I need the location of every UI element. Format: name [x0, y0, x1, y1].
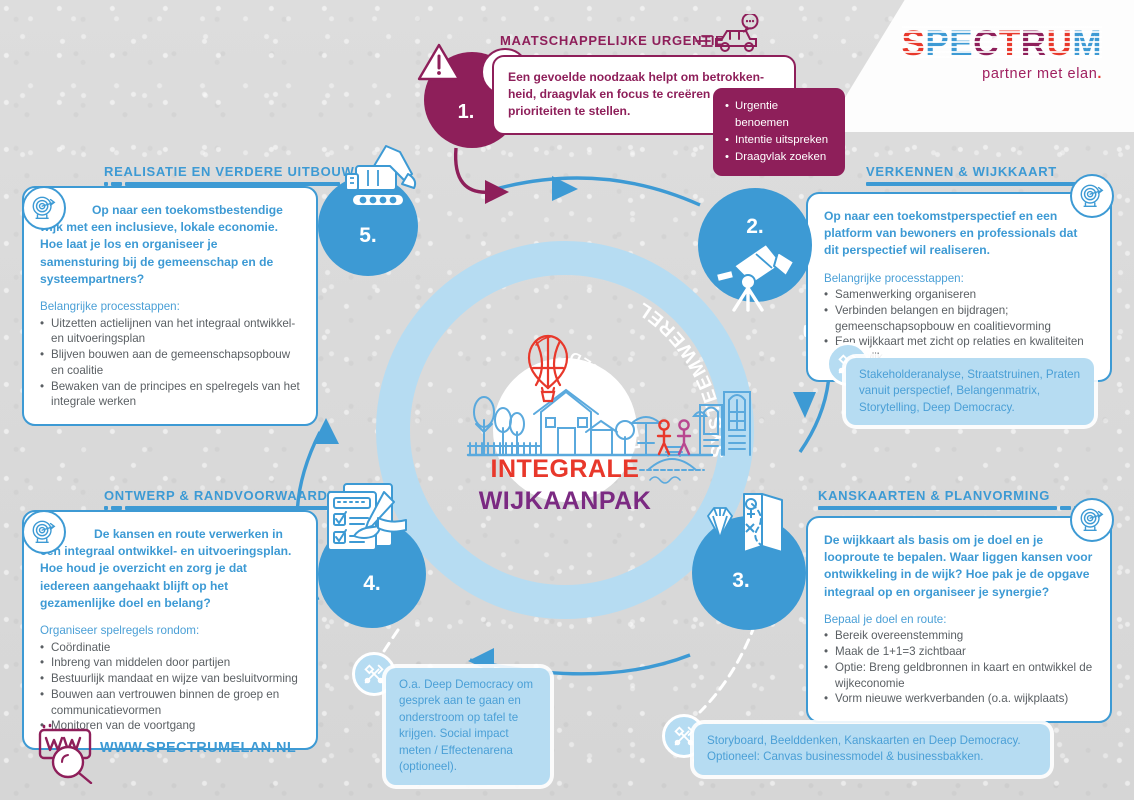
step4-bullet: Bouwen aan vertrouwen binnen de groep en…	[40, 687, 300, 719]
step4-tools-chip: O.a. Deep Democracy om gesprek aan te ga…	[386, 668, 550, 785]
center-title-line2: WIJKAANPAK	[435, 487, 695, 516]
spectrum-logo: S P E C T R U M partner met elan.	[902, 26, 1102, 82]
telescope-icon	[712, 232, 808, 312]
center-title-line1: INTEGRALE	[435, 455, 695, 484]
step5-header: REALISATIE EN VERDERE UITBOUW	[104, 164, 340, 186]
car-speech-bubble-icon	[692, 14, 764, 58]
step4-target-icon	[22, 510, 66, 554]
step1-chip-item: Urgentie benoemen	[725, 98, 833, 132]
step5-target-icon	[22, 186, 66, 230]
logo-letter-e: E	[949, 26, 973, 61]
step1-header-title: MAATSCHAPPELIJKE URGENTIE	[500, 33, 685, 48]
step5-bullets: Uitzetten actielijnen van het integraal …	[40, 316, 300, 411]
step4-number: 4.	[363, 572, 381, 596]
logo-letter-t: T	[999, 26, 1021, 61]
step1-header: MAATSCHAPPELIJKE URGENTIE	[500, 33, 685, 48]
www-search-magnifier-icon	[34, 722, 98, 784]
step2-target-icon	[1070, 174, 1114, 218]
step2-bullet: Samenwerking organiseren	[824, 287, 1094, 303]
step5-bullet: Uitzetten actielijnen van het integraal …	[40, 316, 300, 348]
step5-bullet: Bewaken van de principes en spelregels v…	[40, 379, 300, 411]
logo-letter-p: P	[925, 26, 949, 61]
step2-lead: Op naar een toekomstperspectief en een p…	[824, 208, 1094, 260]
step3-tools-chip: Storyboard, Beelddenken, Kanskaarten en …	[694, 724, 1050, 775]
diamond-map-icon	[684, 490, 804, 570]
step3-lead: De wijkkaart als basis om je doel en je …	[824, 532, 1094, 601]
logo-tagline: partner met elan.	[902, 66, 1102, 82]
logo-tagline-text: partner met elan	[982, 66, 1097, 82]
step3-target-icon	[1070, 498, 1114, 542]
step4-header: ONTWERP & RANDVOORWAARDEN	[104, 488, 340, 510]
logo-letter-u: U	[1047, 26, 1073, 61]
step3-header: KANSKAARTEN & PLANVORMING	[818, 488, 1078, 510]
step2-header: VERKENNEN & WIJKKAART	[866, 164, 1102, 186]
logo-letter-c: C	[973, 26, 999, 61]
step3-number: 3.	[732, 569, 750, 593]
step3-bullet: Optie: Breng geldbronnen in kaart en ont…	[824, 660, 1094, 692]
step4-header-title: ONTWERP & RANDVOORWAARDEN	[104, 488, 340, 503]
footer-url[interactable]: WWW.SPECTRUMELAN.NL	[100, 740, 296, 756]
logo-letter-m: M	[1072, 26, 1102, 61]
logo-letter-s: S	[902, 26, 926, 61]
step4-card: De kansen en route verwerken in een inte…	[22, 510, 318, 750]
step3-sub: Bepaal je doel en route:	[824, 612, 1094, 628]
step4-bullets: Coördinatie Inbreng van middelen door pa…	[40, 640, 300, 735]
step2-sub: Belangrijke processtappen:	[824, 271, 1094, 287]
step1-chip-item: Draagvlak zoeken	[725, 149, 833, 166]
step2-bullet: Verbinden belangen en bijdragen; gemeens…	[824, 303, 1094, 335]
center-title: INTEGRALE WIJKAANPAK	[435, 455, 695, 516]
logo-tagline-dot: .	[1097, 66, 1102, 82]
step4-bullet: Inbreng van middelen door partijen	[40, 655, 300, 671]
step3-bullets: Bereik overeenstemming Maak de 1+1=3 zic…	[824, 628, 1094, 707]
step3-header-title: KANSKAARTEN & PLANVORMING	[818, 488, 1078, 503]
step4-lead: De kansen en route verwerken in een inte…	[40, 526, 300, 612]
step3-bullet: Vorm nieuwe werkverbanden (o.a. wijkplaa…	[824, 691, 1094, 707]
logo-letter-r: R	[1021, 26, 1047, 61]
step4-bullet: Bestuurlijk mandaat en wijze van besluit…	[40, 671, 300, 687]
step2-header-title: VERKENNEN & WIJKKAART	[866, 164, 1102, 179]
checklist-pen-icon	[322, 478, 426, 556]
step4-sub: Organiseer spelregels rondom:	[40, 623, 300, 639]
step1-number: 1.	[458, 101, 475, 124]
step1-chip: Urgentie benoemen Intentie uitspreken Dr…	[713, 88, 845, 176]
logo-wordmark: S P E C T R U M	[902, 26, 1102, 61]
warning-triangle-icon	[416, 41, 462, 83]
excavator-icon	[338, 140, 434, 212]
step4-bullet: Coördinatie	[40, 640, 300, 656]
step1-chip-item: Intentie uitspreken	[725, 132, 833, 149]
step3-bullet: Maak de 1+1=3 zichtbaar	[824, 644, 1094, 660]
step2-tools-chip: Stakeholderanalyse, Straatstruinen, Prat…	[846, 358, 1094, 425]
step5-header-title: REALISATIE EN VERDERE UITBOUW	[104, 164, 340, 179]
step3-card: De wijkkaart als basis om je doel en je …	[806, 516, 1112, 723]
step5-lead: Op naar een toekomstbestendige wijk met …	[40, 202, 300, 288]
step5-bullet: Blijven bouwen aan de gemeenschapsopbouw…	[40, 347, 300, 379]
step3-bullet: Bereik overeenstemming	[824, 628, 1094, 644]
step5-card: Op naar een toekomstbestendige wijk met …	[22, 186, 318, 426]
step5-number: 5.	[359, 224, 377, 248]
step5-sub: Belangrijke processtappen:	[40, 299, 300, 315]
